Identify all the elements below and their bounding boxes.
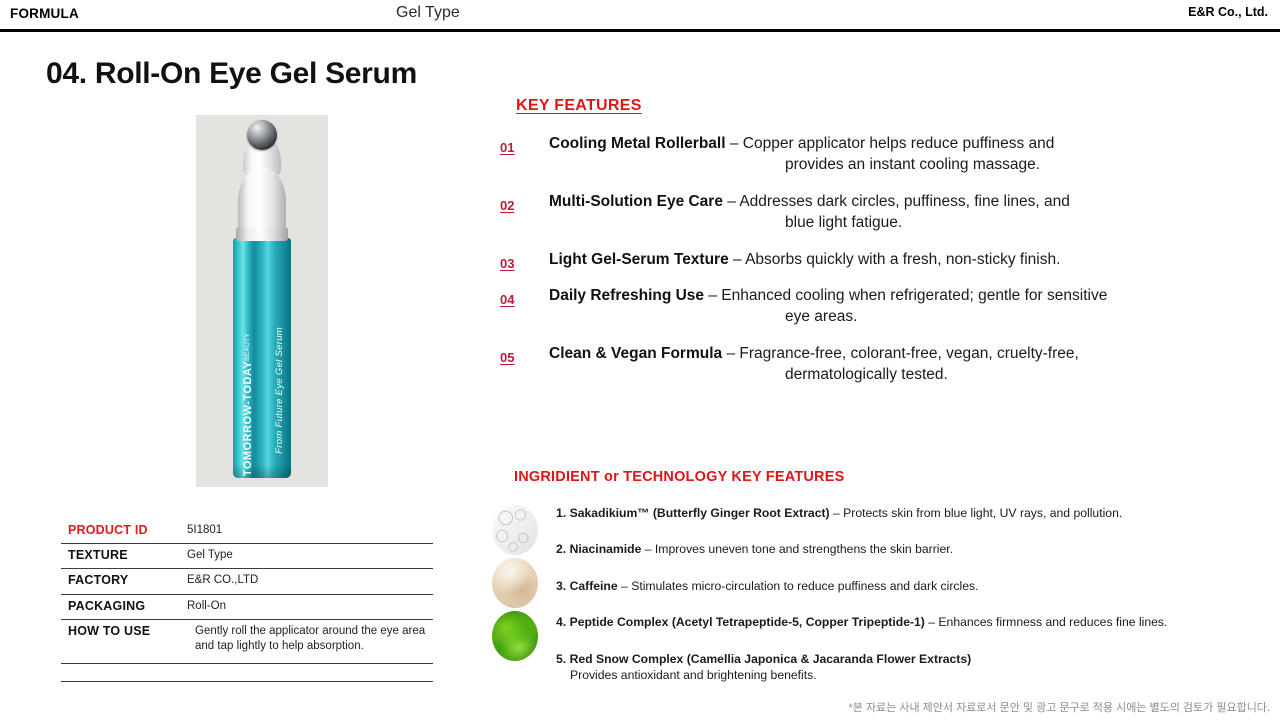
ingredient-thumbnail-column (492, 505, 538, 664)
cap-ring (236, 227, 288, 241)
spacer-cell-right (181, 664, 433, 682)
header-company-label: E&R Co., Ltd. (1188, 5, 1268, 19)
product-tube-illustration: TOMORROW-TODAYBEAUTY From Future Eye Gel… (196, 115, 328, 487)
header-type-label: Gel Type (396, 4, 460, 22)
feature-line-1: Multi-Solution Eye Care – Addresses dark… (549, 191, 1260, 212)
feature-title: Cooling Metal Rollerball (549, 135, 726, 152)
ingredient-name: Niacinamide (570, 542, 642, 556)
table-row-spacer (61, 664, 433, 682)
list-item: 03 Light Gel-Serum Texture – Absorbs qui… (500, 249, 1260, 270)
footnote-text: *본 자료는 사내 제안서 자료로서 문안 및 광고 문구로 적용 시에는 별도… (848, 699, 1270, 715)
page-title: 04. Roll-On Eye Gel Serum (46, 57, 417, 91)
header-category-label: FORMULA (10, 6, 79, 21)
product-spec-table: PRODUCT ID 5I1801 TEXTURE Gel Type FACTO… (61, 519, 433, 682)
spec-key-how-to-use: HOW TO USE (61, 619, 181, 663)
ingredient-section: 1. Sakadikium™ (Butterfly Ginger Root Ex… (492, 505, 1252, 684)
tube-brand-sub: BEAUTY (244, 333, 251, 361)
table-row: TEXTURE Gel Type (61, 544, 433, 569)
feature-desc: – Enhanced cooling when refrigerated; ge… (704, 287, 1107, 304)
ingredient-desc: – Stimulates micro-circulation to reduce… (618, 579, 979, 593)
ingredient-desc: – Protects skin from blue light, UV rays… (830, 506, 1123, 520)
spec-value-texture: Gel Type (181, 544, 433, 569)
feature-body: Multi-Solution Eye Care – Addresses dark… (549, 191, 1260, 234)
feature-line-2: provides an instant cooling massage. (549, 154, 1260, 175)
key-features-heading: KEY FEATURES (516, 97, 642, 115)
feature-title: Clean & Vegan Formula (549, 345, 722, 362)
tube-brand-label: TOMORROW-TODAYBEAUTY (242, 333, 254, 476)
powder-icon (492, 558, 538, 608)
feature-body: Cooling Metal Rollerball – Copper applic… (549, 133, 1260, 176)
list-item: 04 Daily Refreshing Use – Enhanced cooli… (500, 285, 1260, 328)
feature-line-2: eye areas. (549, 306, 1260, 327)
list-item: 3. Caffeine – Stimulates micro-circulati… (556, 578, 1252, 594)
table-row: PACKAGING Roll-On (61, 594, 433, 619)
feature-desc: – Absorbs quickly with a fresh, non-stic… (729, 251, 1061, 268)
table-row: PRODUCT ID 5I1801 (61, 519, 433, 544)
spec-value-product-id: 5I1801 (181, 519, 433, 544)
feature-title: Light Gel-Serum Texture (549, 251, 729, 268)
feature-line-1: Light Gel-Serum Texture – Absorbs quickl… (549, 249, 1260, 270)
applicator-cap (238, 167, 286, 233)
tube-brand-text: TOMORROW-TODAY (242, 361, 254, 476)
ingredient-name: Red Snow Complex (Camellia Japonica & Ja… (570, 652, 972, 666)
spec-key-packaging: PACKAGING (61, 594, 181, 619)
ingredient-desc: – Improves uneven tone and strengthens t… (641, 542, 953, 556)
feature-desc: – Copper applicator helps reduce puffine… (726, 135, 1055, 152)
metal-rollerball-icon (247, 120, 277, 150)
ingredient-index: 4. (556, 615, 566, 629)
spec-key-texture: TEXTURE (61, 544, 181, 569)
spec-value-packaging: Roll-On (181, 594, 433, 619)
molecule-icon (492, 505, 538, 555)
feature-number: 05 (500, 350, 530, 365)
ingredient-name: Caffeine (570, 579, 618, 593)
slide-header-bar: FORMULA Gel Type E&R Co., Ltd. (0, 0, 1280, 32)
slide-canvas: FORMULA Gel Type E&R Co., Ltd. 04. Roll-… (0, 0, 1280, 720)
ingredient-index: 2. (556, 542, 566, 556)
list-item: 4. Peptide Complex (Acetyl Tetrapeptide-… (556, 614, 1252, 630)
feature-title: Daily Refreshing Use (549, 287, 704, 304)
ingredient-subline: Provides antioxidant and brightening ben… (556, 667, 1252, 683)
feature-line-1: Daily Refreshing Use – Enhanced cooling … (549, 285, 1260, 306)
table-row: HOW TO USE Gently roll the applicator ar… (61, 619, 433, 663)
ingredient-index: 1. (556, 506, 566, 520)
list-item: 01 Cooling Metal Rollerball – Copper app… (500, 133, 1260, 176)
feature-title: Multi-Solution Eye Care (549, 193, 723, 210)
spec-key-factory: FACTORY (61, 569, 181, 594)
feature-line-1: Clean & Vegan Formula – Fragrance-free, … (549, 343, 1260, 364)
ingredient-technology-heading: INGRIDIENT or TECHNOLOGY KEY FEATURES (514, 469, 844, 485)
feature-number: 03 (500, 256, 530, 271)
feature-desc: – Addresses dark circles, puffiness, fin… (723, 193, 1070, 210)
ingredient-list: 1. Sakadikium™ (Butterfly Ginger Root Ex… (556, 505, 1252, 684)
key-features-list: 01 Cooling Metal Rollerball – Copper app… (500, 133, 1260, 400)
spec-value-how-to-use: Gently roll the applicator around the ey… (181, 619, 433, 663)
feature-line-1: Cooling Metal Rollerball – Copper applic… (549, 133, 1260, 154)
ingredient-desc: – Enhances firmness and reduces fine lin… (925, 615, 1168, 629)
feature-line-2: blue light fatigue. (549, 212, 1260, 233)
spec-value-factory: E&R CO.,LTD (181, 569, 433, 594)
feature-body: Daily Refreshing Use – Enhanced cooling … (549, 285, 1260, 328)
ingredient-name: Peptide Complex (Acetyl Tetrapeptide-5, … (570, 615, 925, 629)
feature-body: Clean & Vegan Formula – Fragrance-free, … (549, 343, 1260, 386)
list-item: 05 Clean & Vegan Formula – Fragrance-fre… (500, 343, 1260, 386)
list-item: 02 Multi-Solution Eye Care – Addresses d… (500, 191, 1260, 234)
table-row: FACTORY E&R CO.,LTD (61, 569, 433, 594)
spec-key-product-id: PRODUCT ID (61, 519, 181, 544)
feature-line-2: dermatologically tested. (549, 364, 1260, 385)
tube-descriptor-label: From Future Eye Gel Serum (274, 327, 285, 454)
spacer-cell-left (61, 664, 181, 682)
feature-number: 02 (500, 198, 530, 213)
feature-number: 01 (500, 140, 530, 155)
list-item: 5. Red Snow Complex (Camellia Japonica &… (556, 651, 1252, 684)
feature-number: 04 (500, 292, 530, 307)
feature-body: Light Gel-Serum Texture – Absorbs quickl… (549, 249, 1260, 270)
leaves-icon (492, 611, 538, 661)
feature-desc: – Fragrance-free, colorant-free, vegan, … (722, 345, 1079, 362)
product-image-panel: TOMORROW-TODAYBEAUTY From Future Eye Gel… (196, 115, 328, 487)
ingredient-index: 5. (556, 652, 566, 666)
list-item: 2. Niacinamide – Improves uneven tone an… (556, 541, 1252, 557)
ingredient-name: Sakadikium™ (Butterfly Ginger Root Extra… (570, 506, 830, 520)
list-item: 1. Sakadikium™ (Butterfly Ginger Root Ex… (556, 505, 1252, 521)
ingredient-index: 3. (556, 579, 566, 593)
